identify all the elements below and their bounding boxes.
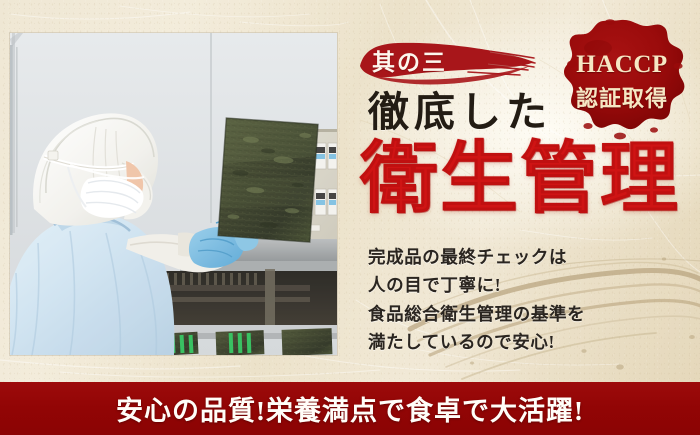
bottom-banner: 安心の品質!栄養満点で食卓で大活躍!	[0, 382, 700, 435]
body-line-2: 人の目で丁寧に!	[368, 271, 585, 299]
body-line-1: 完成品の最終チェックは	[368, 243, 585, 271]
haccp-certification-seal: HACCP 認証取得	[558, 18, 686, 146]
factory-inspection-photo	[10, 33, 337, 355]
body-line-3: 食品総合衛生管理の基準を	[368, 300, 585, 328]
section-label-text: 其の三	[372, 43, 447, 77]
main-title-text: 衛生管理	[360, 140, 680, 218]
seal-stamp-shape	[558, 18, 686, 146]
section-label-brush: 其の三	[358, 36, 536, 86]
banner-image: 其の三 徹底した 衛生管理 完成品の最終チェックは 人の目で丁寧に! 食品総合衛…	[0, 0, 700, 435]
bottom-banner-text: 安心の品質!栄養満点で食卓で大活躍!	[116, 389, 584, 428]
subtitle-text: 徹底した	[368, 92, 552, 133]
body-copy: 完成品の最終チェックは 人の目で丁寧に! 食品総合衛生管理の基準を 満たしている…	[368, 243, 585, 356]
body-line-4: 満たしているので安心!	[368, 328, 585, 356]
